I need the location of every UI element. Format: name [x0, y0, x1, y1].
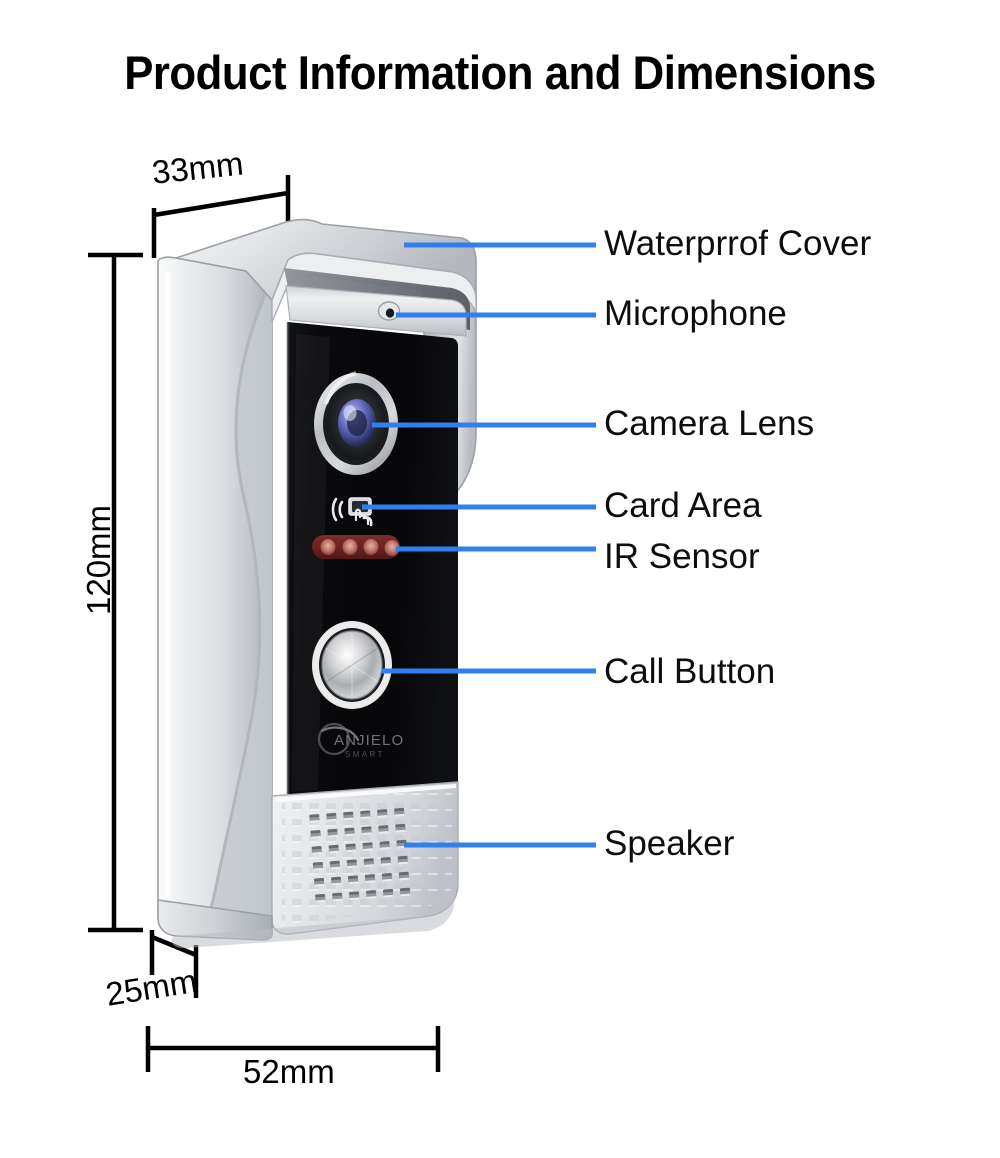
callout-camera-lens: Camera Lens: [604, 406, 814, 441]
speaker-panel: [272, 782, 458, 934]
brand-logo-sub: SMART: [345, 750, 385, 759]
callout-microphone: Microphone: [604, 296, 787, 331]
camera-lens-highlight: [344, 405, 357, 421]
ir-led: [321, 539, 336, 555]
speaker-holes: [306, 804, 417, 909]
call-button[interactable]: [312, 621, 392, 709]
product-diagram-page: Product Information and Dimensions: [0, 0, 1000, 1158]
callout-speaker: Speaker: [604, 826, 734, 861]
callout-call-button: Call Button: [604, 654, 775, 689]
ir-led: [364, 539, 379, 555]
callout-card-area: Card Area: [604, 488, 762, 523]
callout-waterproof-cover: Waterprrof Cover: [604, 226, 871, 261]
dimension-label-height: 120mm: [82, 505, 115, 615]
microphone-hole-inner: [386, 308, 394, 317]
dimension-label-depth-top: 33mm: [150, 147, 245, 189]
brand-logo-text: ANJIELO: [334, 732, 404, 749]
doorbell-device: ANJIELO SMART: [158, 220, 476, 949]
callout-ir-sensor: IR Sensor: [604, 539, 760, 574]
ir-sensor-array: [312, 535, 400, 559]
ir-led: [343, 539, 358, 555]
dimension-label-width: 52mm: [243, 1055, 335, 1088]
